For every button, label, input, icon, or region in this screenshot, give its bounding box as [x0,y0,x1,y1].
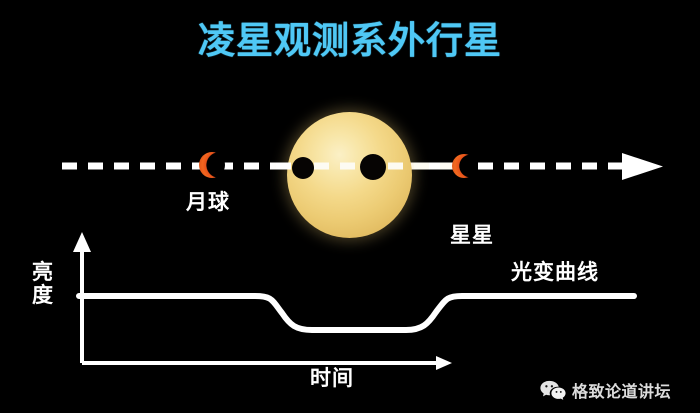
axis-label-y-brightness: 亮度 [30,262,56,307]
page-title: 凌星观测系外行星 [0,10,700,64]
planet-silhouette-left [292,157,314,179]
label-star: 星星 [450,219,494,249]
x-axis [82,356,452,370]
label-light-curve: 光变曲线 [511,256,599,286]
wechat-icon [540,380,566,400]
crescent-planet-left [199,152,225,178]
watermark: 格致论道讲坛 [540,378,671,402]
y-axis [73,232,91,363]
axis-label-x-time: 时间 [310,362,354,392]
y-axis-arrow-icon [73,232,91,252]
light-curve-line [79,296,634,330]
label-moon: 月球 [186,186,230,216]
x-axis-arrow-icon [436,356,452,370]
crescent-planet-right [452,154,476,178]
orbit-arrow-icon [622,153,663,180]
planet-silhouette-right [360,154,386,180]
watermark-text: 格致论道讲坛 [572,378,671,402]
illustration-canvas: 凌星观测系外行星 月球 星星 光变曲线 亮度 时间 [0,0,700,413]
